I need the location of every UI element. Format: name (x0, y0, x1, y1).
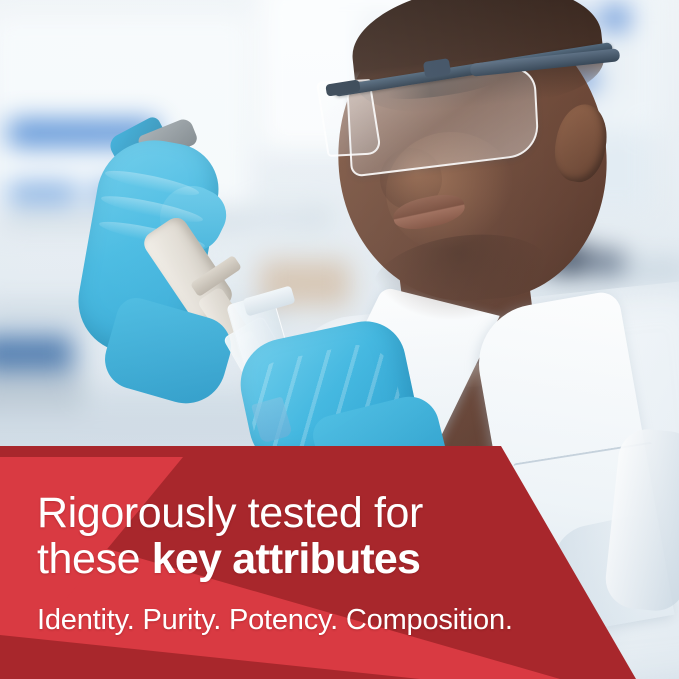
headline-line-1: Rigorously tested for (37, 489, 423, 537)
headline-line-2-normal: these (37, 535, 152, 583)
promotional-banner-image: Rigorously tested for these key attribut… (0, 0, 679, 679)
red-caption-banner: Rigorously tested for these key attribut… (0, 440, 679, 679)
banner-subline: Identity. Purity. Potency. Composition. (37, 582, 557, 636)
banner-headline: Rigorously tested for these key attribut… (37, 440, 557, 582)
safety-glasses-icon (320, 40, 620, 180)
headline-line-2-bold: key attributes (152, 535, 420, 583)
banner-text-block: Rigorously tested for these key attribut… (37, 440, 557, 636)
